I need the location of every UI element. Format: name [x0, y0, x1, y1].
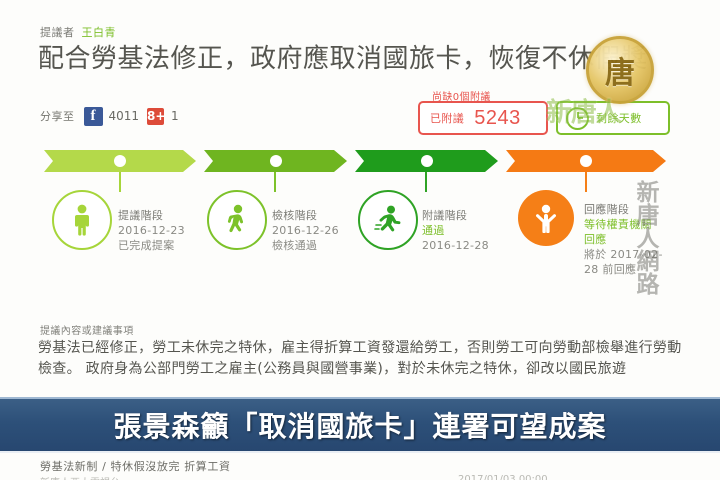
- station-logo-icon: 唐: [586, 36, 654, 104]
- body-heading: 提議內容或建議事項: [40, 322, 134, 337]
- footer-topic-line: 勞基法新制 / 特休假沒放完 折算工資: [40, 458, 231, 474]
- timeline-step-4-date: 將於 2017-02-28 前回應: [584, 247, 664, 277]
- body-paragraph: 勞基法已經修正，勞工未休完之特休，雇主得折算工資發還給勞工，否則勞工可向勞動部檢…: [38, 338, 686, 380]
- petition-timeline: 提議階段 2016-12-23 已完成提案 檢核階段 2016-12-26 檢核…: [0, 150, 720, 300]
- timeline-step-2-stage: 檢核階段: [272, 208, 339, 223]
- timeline-step-1-status: 已完成提案: [118, 238, 185, 253]
- timeline-node-4: [518, 190, 574, 246]
- timeline-node-3: [358, 190, 418, 250]
- timeline-arrow-4: [506, 150, 666, 172]
- timeline-node-1: [52, 190, 112, 250]
- page-title: 配合勞基法修正，政府應取消國旅卡，恢復不休假獎: [38, 42, 678, 76]
- timeline-node-2: [207, 190, 267, 250]
- signed-count-box: 已附議 5243: [418, 101, 548, 135]
- proposer-label: 提議者: [40, 26, 75, 39]
- timeline-arrow-1: [44, 150, 196, 172]
- timeline-dot-3: [421, 155, 433, 167]
- screenshot-root: 提議者王白青 配合勞基法修正，政府應取消國旅卡，恢復不休假獎 分享至 f 401…: [0, 0, 720, 480]
- timeline-dot-2: [270, 155, 282, 167]
- share-row: 分享至 f 4011 8+ 1: [40, 106, 179, 126]
- facebook-icon[interactable]: f: [84, 107, 103, 126]
- news-banner: 張景森籲「取消國旅卡」連署可望成案: [0, 397, 720, 453]
- proposer-name[interactable]: 王白青: [82, 26, 117, 39]
- timeline-step-2-status: 檢核通過: [272, 238, 339, 253]
- timeline-step-3-date: 2016-12-28: [422, 238, 489, 253]
- person-running-icon: [374, 205, 402, 235]
- remaining-days-label: 剩餘天數: [596, 110, 642, 126]
- timeline-step-1-date: 2016-12-23: [118, 223, 185, 238]
- person-walking-icon: [225, 204, 249, 236]
- timeline-step-4-stage: 回應階段: [584, 202, 664, 217]
- person-cheering-icon: [533, 203, 559, 233]
- footer-timestamp: 2017/01/03 00:00: [458, 474, 548, 480]
- timeline-step-2-date: 2016-12-26: [272, 223, 339, 238]
- remaining-days-box: 剩餘天數: [556, 101, 670, 135]
- timeline-step-4-text: 回應階段 等待權責機關回應 將於 2017-02-28 前回應: [584, 202, 664, 277]
- footer-station-text: 新唐人亞太電視台: [40, 474, 120, 480]
- timeline-arrow-2: [204, 150, 347, 172]
- timeline-step-1-text: 提議階段 2016-12-23 已完成提案: [118, 208, 185, 253]
- clock-icon: [566, 107, 589, 130]
- signed-label: 已附議: [430, 110, 464, 126]
- person-standing-icon: [71, 204, 93, 236]
- proposer-row: 提議者王白青: [40, 24, 116, 40]
- timeline-step-4-status: 等待權責機關回應: [584, 217, 656, 247]
- timeline-dot-1: [114, 155, 126, 167]
- timeline-arrow-3: [355, 150, 498, 172]
- signed-count: 5243: [474, 107, 521, 130]
- news-banner-text: 張景森籲「取消國旅卡」連署可望成案: [113, 405, 606, 445]
- share-label: 分享至: [40, 108, 75, 124]
- timeline-step-3-stage: 附議階段: [422, 208, 489, 223]
- timeline-step-1-stage: 提議階段: [118, 208, 185, 223]
- facebook-share-count: 4011: [109, 109, 140, 123]
- google-plus-share-count: 1: [171, 109, 179, 123]
- timeline-step-3-text: 附議階段 通過 2016-12-28: [422, 208, 489, 253]
- timeline-step-2-text: 檢核階段 2016-12-26 檢核通過: [272, 208, 339, 253]
- station-logo-glyph: 唐: [605, 48, 635, 92]
- timeline-step-3-status: 通過: [422, 223, 489, 238]
- google-plus-icon[interactable]: 8+: [147, 108, 164, 125]
- timeline-dot-4: [580, 155, 592, 167]
